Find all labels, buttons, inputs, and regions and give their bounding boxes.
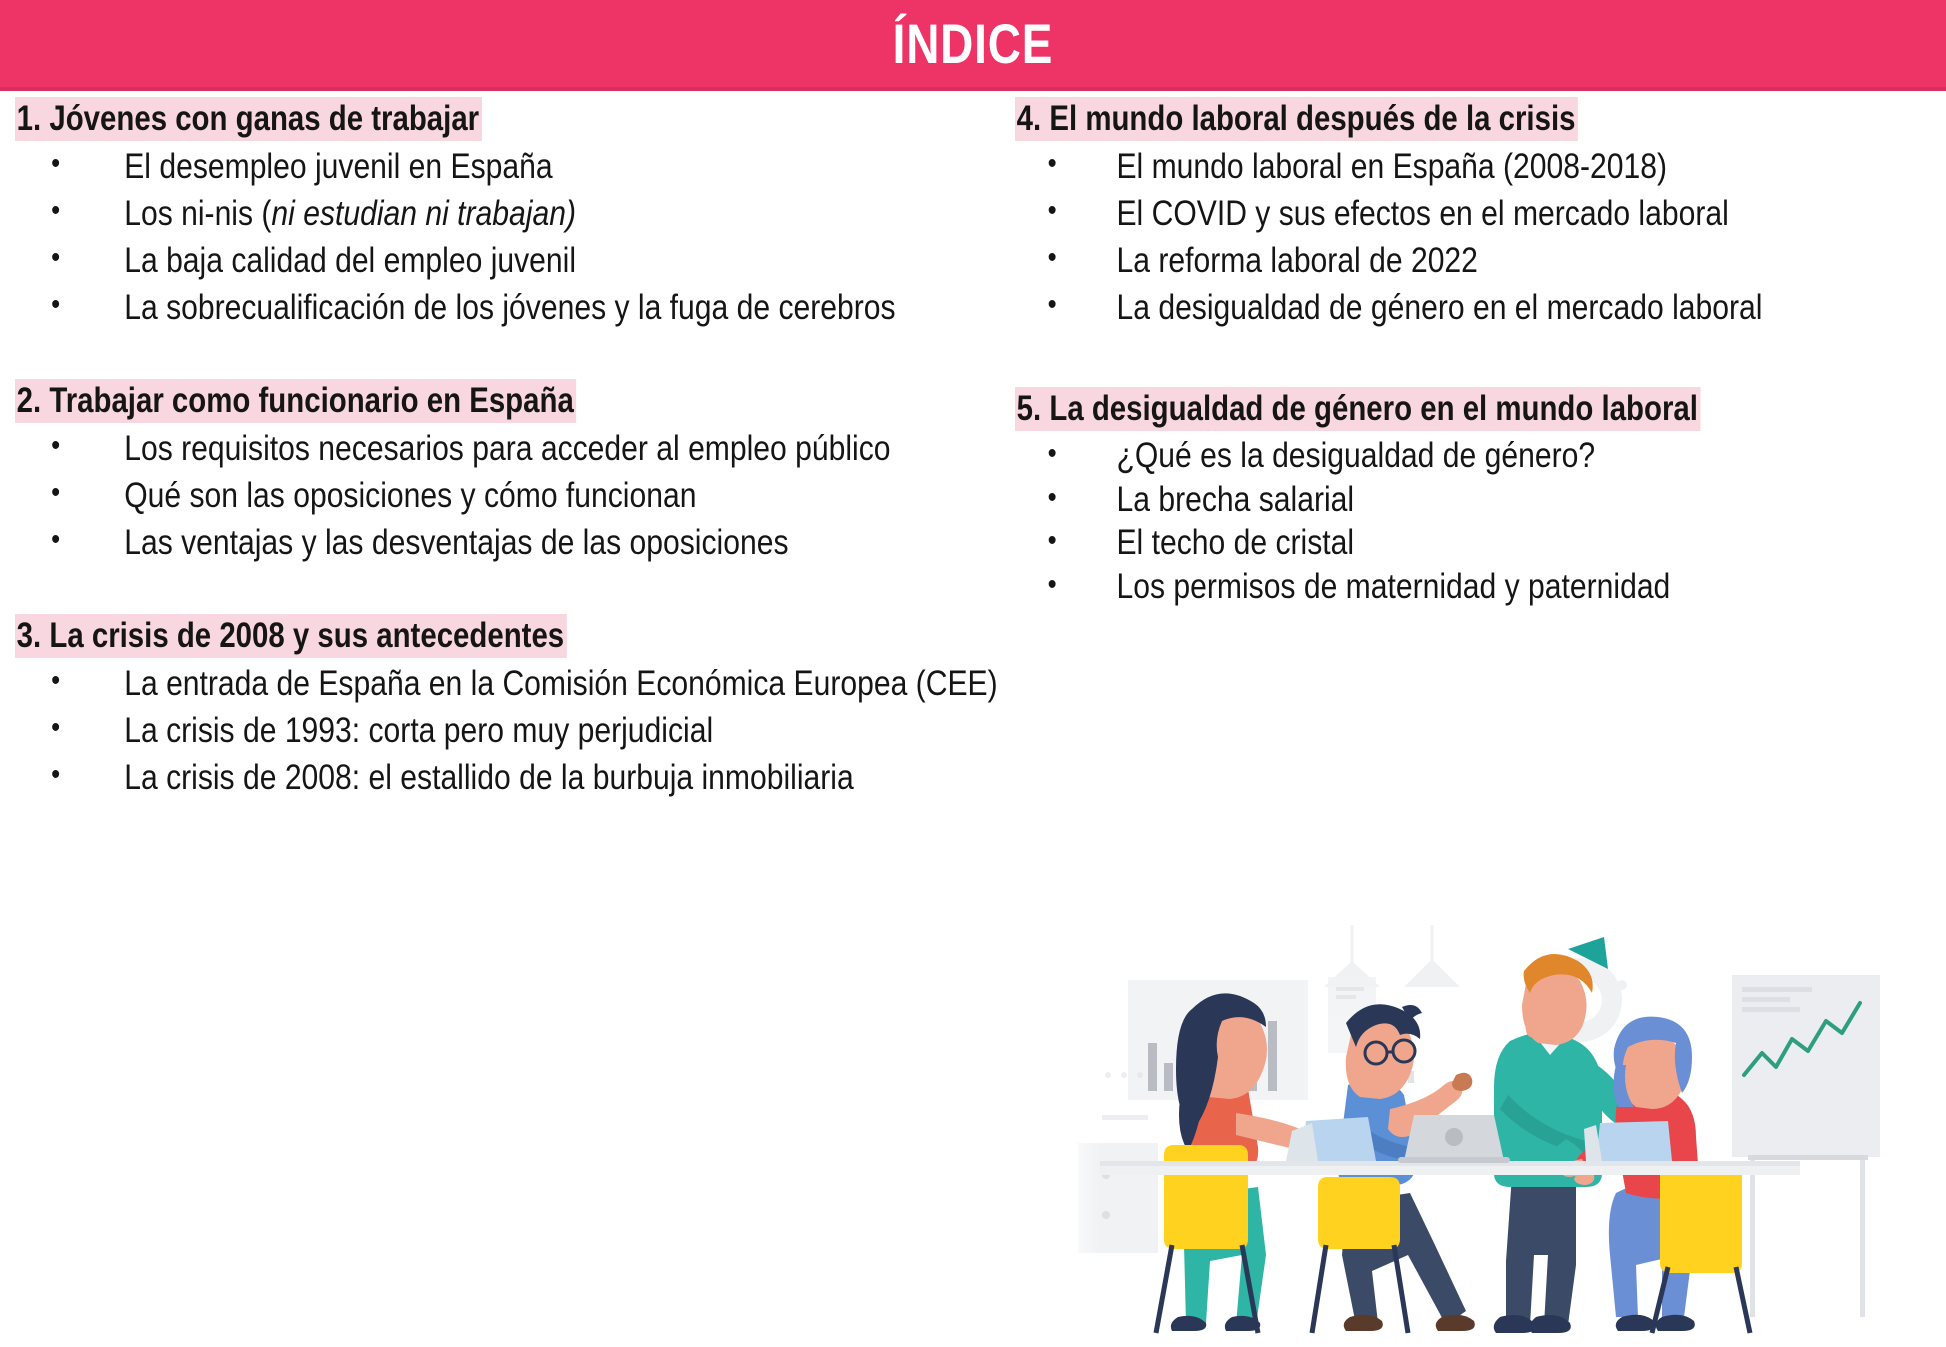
bullet-text-italic: ni estudian ni trabajan) [271, 194, 576, 233]
bullet-text: El desempleo juvenil en España [124, 147, 552, 186]
list-item: El COVID y sus efectos en el mercado lab… [1015, 191, 1946, 237]
section-4: 4. El mundo laboral después de la crisis… [1015, 96, 1940, 331]
meeting-table [1100, 1161, 1800, 1175]
bullet-text: ¿Qué es la desigualdad de género? [1116, 436, 1595, 475]
index-column-right: 4. El mundo laboral después de la crisis… [1015, 96, 1940, 609]
list-item: La brecha salarial [1015, 478, 1946, 522]
section-spacer [1015, 332, 1940, 386]
list-item: Los requisitos necesarios para acceder a… [15, 426, 1107, 472]
bullet-text: El COVID y sus efectos en el mercado lab… [1116, 194, 1728, 233]
list-item: La entrada de España en la Comisión Econ… [15, 661, 1107, 707]
section-2: 2. Trabajar como funcionario en España L… [15, 378, 1000, 566]
section-1-heading-text: 1. Jóvenes con ganas de trabajar [15, 97, 482, 141]
section-1-heading: 1. Jóvenes con ganas de trabajar [15, 96, 1000, 142]
bullet-text-pre: Los ni-nis ( [124, 194, 271, 233]
bullet-text: La crisis de 1993: corta pero muy perjud… [124, 711, 713, 750]
pie-dot [1617, 980, 1627, 990]
list-item: La crisis de 1993: corta pero muy perjud… [15, 708, 1107, 754]
section-4-bullet-list: El mundo laboral en España (2008-2018) E… [1015, 144, 1940, 332]
section-3-heading: 3. La crisis de 2008 y sus antecedentes [15, 613, 1000, 659]
bullet-text: El mundo laboral en España (2008-2018) [1116, 147, 1667, 186]
bullet-text: La reforma laboral de 2022 [1116, 241, 1477, 280]
section-1-bullet-list: El desempleo juvenil en España Los ni-ni… [15, 144, 1000, 332]
section-5-heading: 5. La desigualdad de género en el mundo … [1015, 386, 1940, 432]
list-item: Los ni-nis (ni estudian ni trabajan) [15, 191, 1107, 237]
bullet-text: La sobrecualificación de los jóvenes y l… [124, 288, 895, 327]
section-5-heading-text: 5. La desigualdad de género en el mundo … [1015, 387, 1700, 431]
section-5-bullet-list: ¿Qué es la desigualdad de género? La bre… [1015, 434, 1940, 609]
bullet-text: La baja calidad del empleo juvenil [124, 241, 576, 280]
section-3-bullet-list: La entrada de España en la Comisión Econ… [15, 661, 1000, 802]
bullet-text: La desigualdad de género en el mercado l… [1116, 288, 1762, 327]
list-item: ¿Qué es la desigualdad de género? [1015, 434, 1946, 478]
laptop [1398, 1115, 1510, 1163]
bullet-text: Las ventajas y las desventajas de las op… [124, 523, 788, 562]
bullet-text: Qué son las oposiciones y cómo funcionan [124, 476, 696, 515]
page-title: ÍNDICE [893, 16, 1054, 72]
list-item: El mundo laboral en España (2008-2018) [1015, 144, 1946, 190]
section-2-bullet-list: Los requisitos necesarios para acceder a… [15, 426, 1000, 567]
section-2-heading-text: 2. Trabajar como funcionario en España [15, 379, 576, 423]
bullet-text: La brecha salarial [1116, 480, 1354, 519]
section-2-heading: 2. Trabajar como funcionario en España [15, 378, 1000, 424]
section-5: 5. La desigualdad de género en el mundo … [1015, 386, 1940, 609]
bullet-text: El techo de cristal [1116, 523, 1354, 562]
bullet-text: La entrada de España en la Comisión Econ… [124, 664, 997, 703]
section-4-heading: 4. El mundo laboral después de la crisis [1015, 96, 1940, 142]
list-item: La desigualdad de género en el mercado l… [1015, 285, 1946, 331]
section-1: 1. Jóvenes con ganas de trabajar El dese… [15, 96, 1000, 331]
section-3: 3. La crisis de 2008 y sus antecedentes … [15, 613, 1000, 801]
wall-line [1102, 1115, 1148, 1120]
list-item: La reforma laboral de 2022 [1015, 238, 1946, 284]
list-item: La crisis de 2008: el estallido de la bu… [15, 755, 1107, 801]
index-column-left: 1. Jóvenes con ganas de trabajar El dese… [15, 96, 1000, 802]
page-banner: ÍNDICE [0, 0, 1946, 91]
section-4-heading-text: 4. El mundo laboral después de la crisis [1015, 97, 1578, 141]
section-spacer [15, 332, 1000, 378]
list-item: La sobrecualificación de los jóvenes y l… [15, 285, 1107, 331]
business-team-meeting-illustration [1060, 925, 1940, 1345]
list-item: El desempleo juvenil en España [15, 144, 1107, 190]
bullet-text: Los requisitos necesarios para acceder a… [124, 429, 890, 468]
list-item: El techo de cristal [1015, 521, 1946, 565]
section-spacer [15, 567, 1000, 613]
section-3-heading-text: 3. La crisis de 2008 y sus antecedentes [15, 614, 567, 658]
list-item: La baja calidad del empleo juvenil [15, 238, 1107, 284]
list-item: Las ventajas y las desventajas de las op… [15, 520, 1107, 566]
bullet-text: La crisis de 2008: el estallido de la bu… [124, 758, 854, 797]
list-item: Los permisos de maternidad y paternidad [1015, 565, 1946, 609]
list-item: Qué son las oposiciones y cómo funcionan [15, 473, 1107, 519]
bullet-text: Los permisos de maternidad y paternidad [1116, 567, 1670, 606]
